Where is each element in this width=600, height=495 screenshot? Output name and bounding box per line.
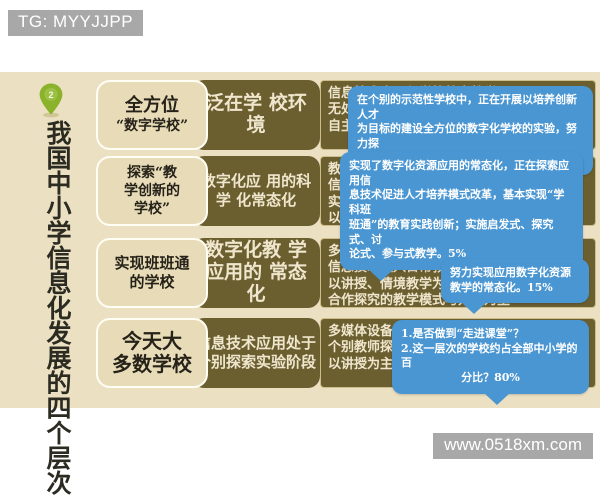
callout-line: 为目标的建设全方位的数字化学校的实验，努力探 (357, 122, 584, 151)
level-label-box[interactable]: 全方位 “数字学校” (96, 80, 208, 150)
annotation-callout[interactable]: 努力实现应用数字化资源 教学的常态化。15% (441, 259, 589, 303)
level-stage-box[interactable]: 数字化应 用的科学 化常态化 (192, 156, 320, 226)
callout-line: 教学的常态化。15% (450, 281, 580, 296)
stage-line2: 个别探索实验阶段 (196, 353, 316, 371)
level-stage-box[interactable]: 泛在学 校环境 (192, 80, 320, 150)
level-label-line3: 学校” (134, 200, 170, 218)
stage-line1: 数字化应 (201, 172, 261, 190)
page-title: 我国中小学信息化发展的四个层次 (36, 120, 70, 495)
stage-line1: 泛在学 (205, 92, 262, 114)
level-label-line2: 学创新的 (124, 182, 180, 200)
stage-line1: 信息技术应用处于 (196, 334, 316, 352)
level-label-line1: 全方位 (125, 96, 179, 116)
level-stage-box[interactable]: 数字化教 学应用的 常态化 (192, 238, 320, 308)
callout-line: 2.这一层次的学校约占全部中小学的百 (401, 342, 580, 371)
callout-line: 实现了数字化资源应用的常态化，正在探索应用信 (349, 159, 574, 188)
annotation-callout[interactable]: 实现了数字化资源应用的常态化，正在探索应用信 息技术促进人才培养模式改革，基本实… (340, 152, 583, 270)
callout-tail-icon (484, 393, 510, 405)
level-label-line2: “数字学校” (116, 118, 188, 135)
callout-line: 努力实现应用数字化资源 (450, 266, 580, 281)
level-label-line1: 今天大 (122, 330, 182, 353)
slide-title-column: 2 我国中小学信息化发展的四个层次 (20, 72, 84, 408)
tg-watermark-label: TG: MYYJJPP (8, 10, 143, 36)
callout-tail-icon (461, 302, 487, 314)
level-label-line1: 探索“教 (127, 164, 177, 182)
svg-text:2: 2 (48, 90, 53, 100)
level-label-line1: 实现班班通 (114, 254, 189, 273)
level-stage-box[interactable]: 信息技术应用处于 个别探索实验阶段 (192, 318, 320, 388)
level-label-box[interactable]: 今天大 多数学校 (96, 318, 208, 388)
stage-line3: 化常态化 (236, 191, 296, 209)
callout-tail-icon (368, 269, 394, 281)
stage-line1: 数字化教 (205, 239, 281, 261)
callout-line: 在个别的示范性学校中，正在开展以培养创新人才 (357, 93, 584, 122)
site-watermark-label: www.0518xm.com (433, 433, 593, 459)
callout-line: 班通”的教育实践创新；实施启发式、探究式、讨 (349, 218, 574, 247)
annotation-callout[interactable]: 1.是否做到“走进课堂”？ 2.这一层次的学校约占全部中小学的百 分比？80% (392, 320, 589, 394)
level-label-line2: 多数学校 (112, 353, 192, 376)
callout-line: 1.是否做到“走进课堂”？ (401, 327, 580, 342)
level-label-line2: 的学校 (129, 273, 174, 292)
level-label-box[interactable]: 探索“教 学创新的 学校” (96, 156, 208, 226)
callout-line: 息技术促进人才培养模式改革，基本实现“学科班 (349, 188, 574, 217)
level-label-box[interactable]: 实现班班通 的学校 (96, 238, 208, 308)
callout-line: 分比？80% (401, 371, 580, 386)
map-pin-icon: 2 (37, 82, 65, 118)
